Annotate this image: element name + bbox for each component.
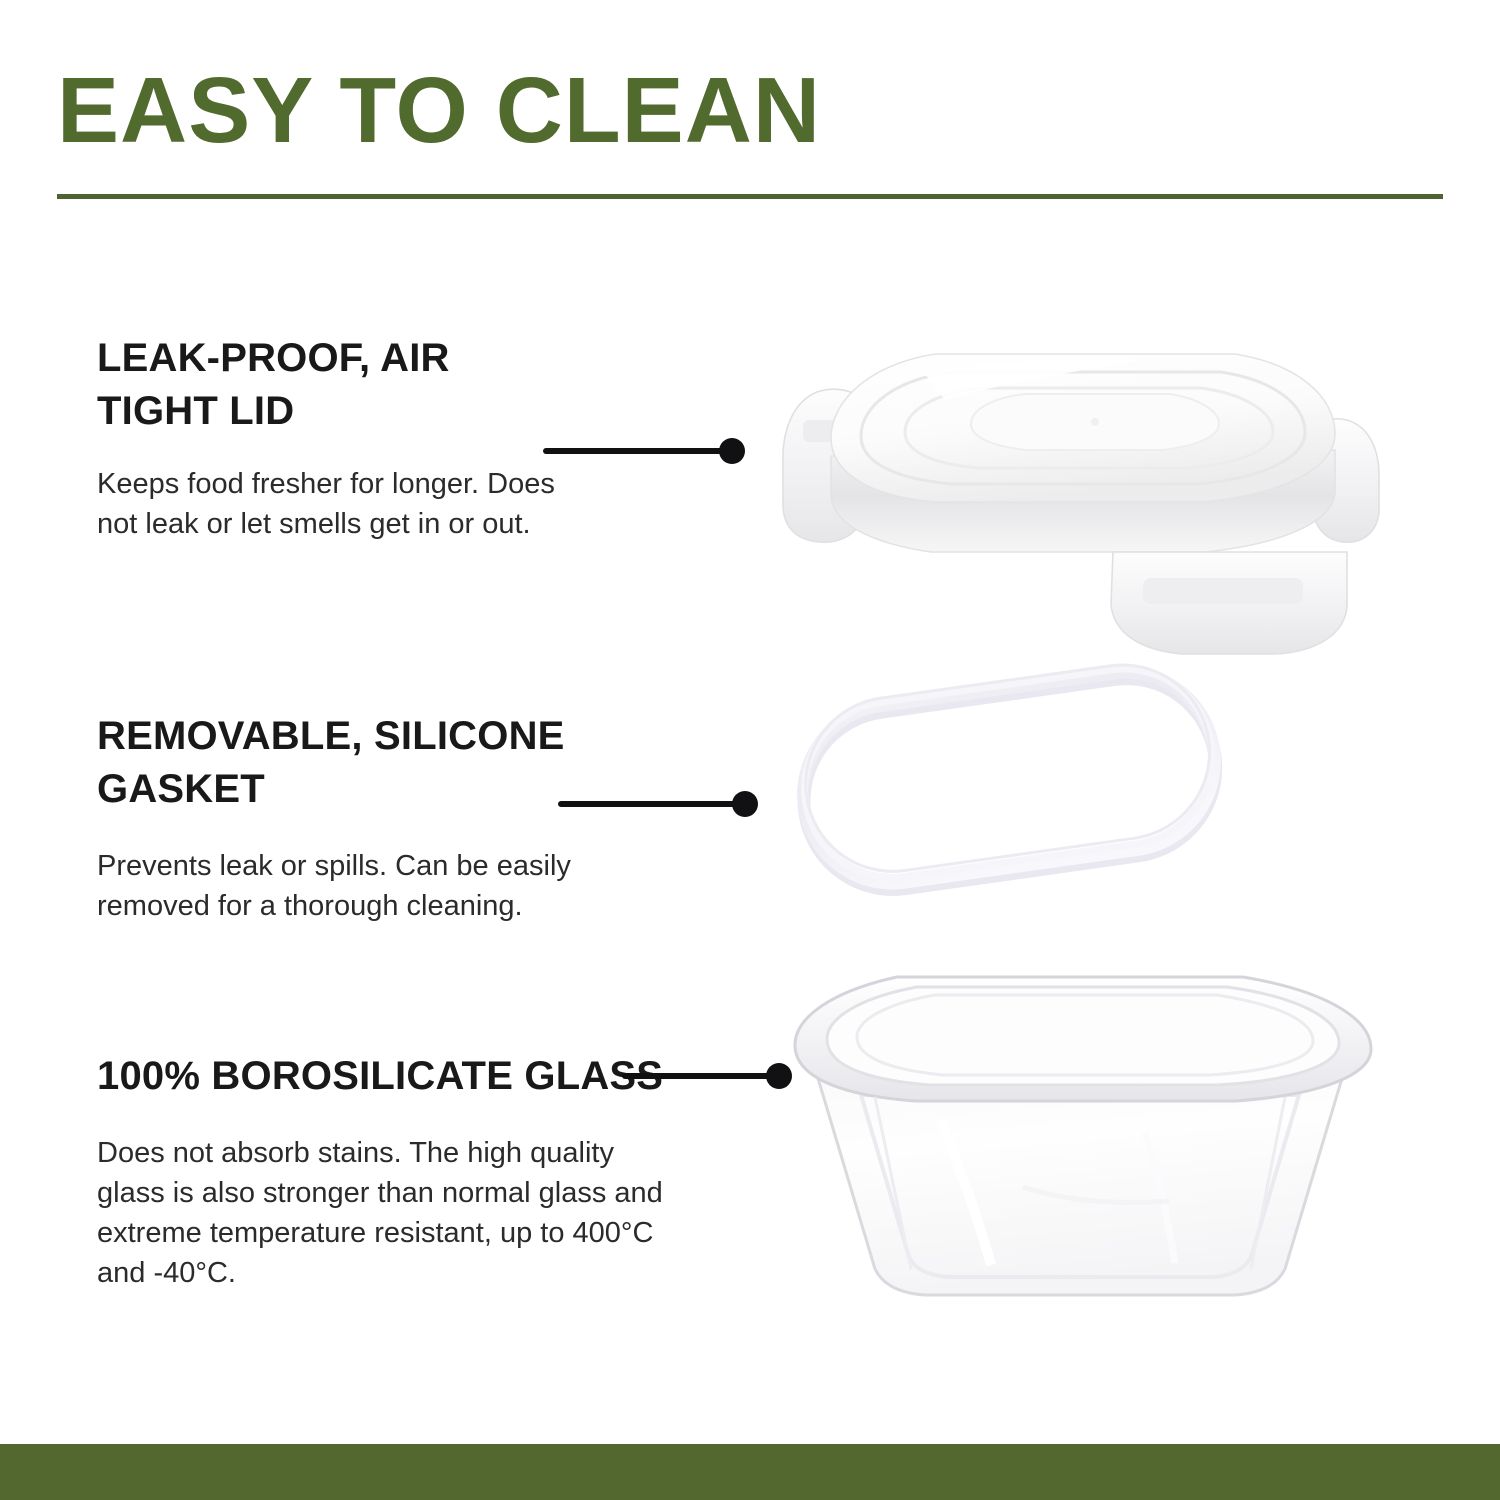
title-divider-rule [57,194,1443,199]
callout-line-gasket [558,801,746,807]
gasket-ring-group [791,655,1228,901]
feature-block-gasket: REMOVABLE, SILICONE GASKET Prevents leak… [97,710,657,926]
footer-brand-bar [0,1444,1500,1500]
callout-connector-gasket [558,801,758,807]
feature-body-gasket: Prevents leak or spills. Can be easily r… [97,846,657,926]
page-title: EASY TO CLEAN [57,60,821,160]
feature-block-lid: LEAK-PROOF, AIR TIGHT LID Keeps food fre… [97,332,567,544]
feature-body-glass: Does not absorb stains. The high quality… [97,1133,677,1293]
glass-container-illustration [765,925,1395,1305]
lid-clip-front-grip [1143,578,1303,604]
feature-block-glass: 100% BOROSILICATE GLASS Does not absorb … [97,1050,677,1293]
product-image-lid [735,330,1435,660]
lid-illustration [735,330,1435,660]
lid-vent-mark [1091,418,1099,426]
callout-connector-lid [543,448,745,454]
feature-heading-lid: LEAK-PROOF, AIR TIGHT LID [97,332,567,438]
callout-line-glass [622,1073,780,1079]
feature-body-lid: Keeps food fresher for longer. Does not … [97,464,567,544]
product-image-glass-container [765,925,1395,1305]
infographic-page: EASY TO CLEAN LEAK-PROOF, AIR TIGHT LID … [0,0,1500,1500]
callout-dot-gasket [732,791,758,817]
product-image-gasket [785,655,1235,915]
callout-line-lid [543,448,733,454]
glass-body [817,1075,1343,1295]
feature-heading-glass: 100% BOROSILICATE GLASS [97,1050,677,1103]
gasket-illustration [785,655,1235,915]
